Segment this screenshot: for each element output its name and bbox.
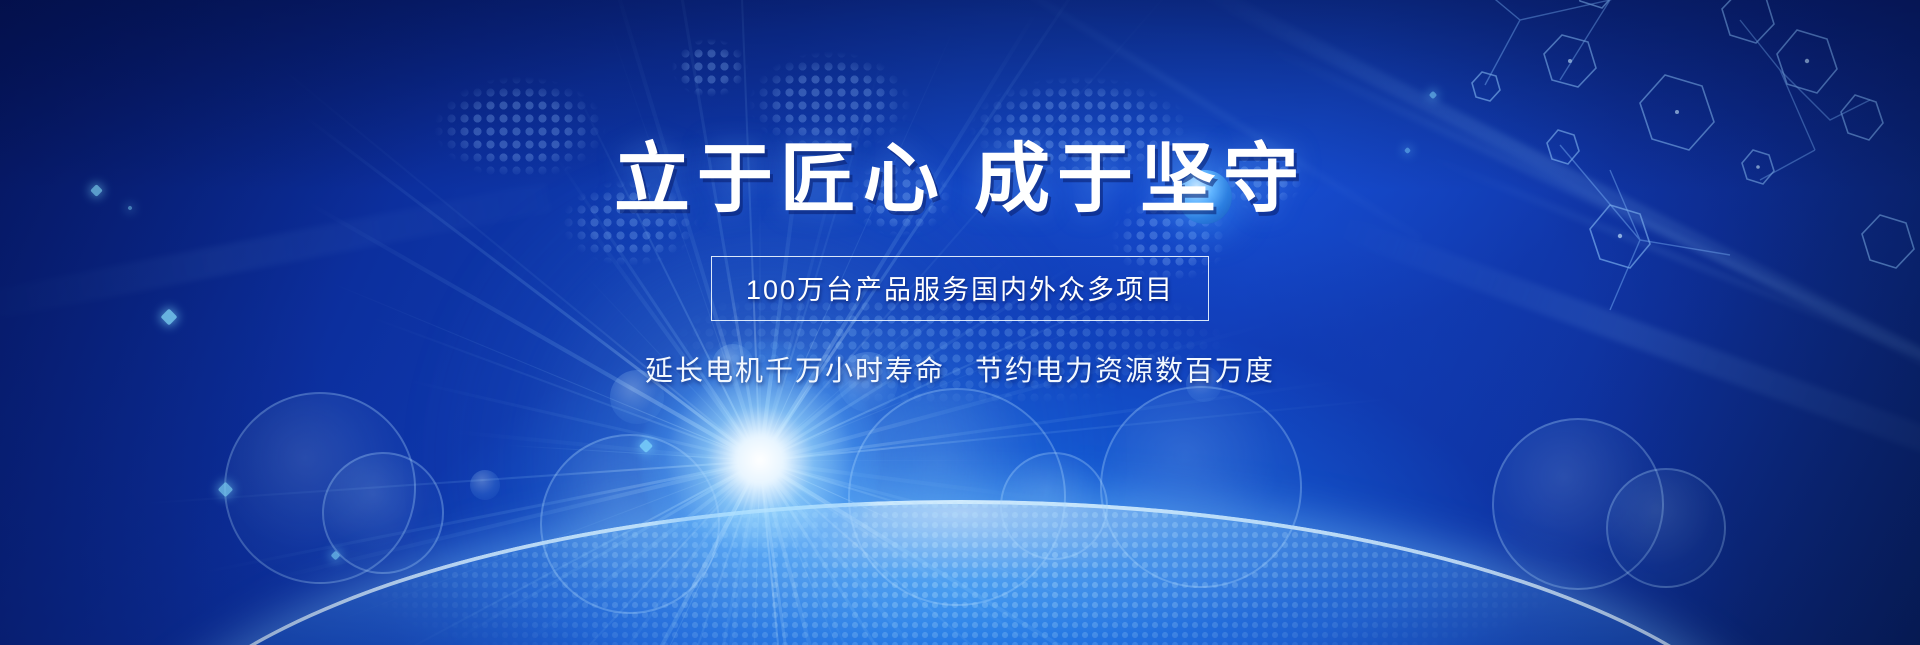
hero-banner: 立于匠心 成于坚守 100万台产品服务国内外众多项目 延长电机千万小时寿命 节约… <box>0 0 1920 645</box>
subtitle-boxed-text: 100万台产品服务国内外众多项目 <box>711 256 1209 321</box>
tagline: 延长电机千万小时寿命 节约电力资源数百万度 <box>0 349 1920 389</box>
subtitle-container: 100万台产品服务国内外众多项目 <box>711 256 1209 321</box>
banner-content: 立于匠心 成于坚守 100万台产品服务国内外众多项目 延长电机千万小时寿命 节约… <box>0 0 1920 389</box>
page-title: 立于匠心 成于坚守 <box>0 0 1920 220</box>
